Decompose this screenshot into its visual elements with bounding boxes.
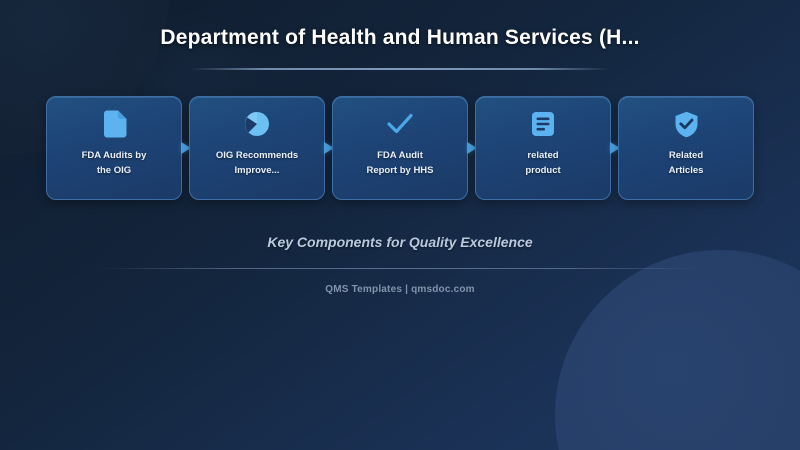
process-card-4-label-line2: product: [525, 165, 560, 176]
shield-check-icon: [672, 110, 700, 138]
process-card-3-label-line2: Report by HHS: [366, 165, 433, 176]
process-card-4[interactable]: related product: [475, 96, 611, 200]
process-card-5[interactable]: Related Articles: [618, 96, 754, 200]
footer-attribution: QMS Templates | qmsdoc.com: [0, 284, 800, 295]
process-card-1-label: FDA Audits by the OIG: [74, 149, 155, 178]
process-card-3-label: FDA Audit Report by HHS: [358, 149, 441, 178]
slide-canvas: Department of Health and Human Services …: [0, 0, 800, 450]
connector-arrow-3: [468, 96, 475, 200]
process-card-3[interactable]: FDA Audit Report by HHS: [332, 96, 468, 200]
process-card-5-label-line1: Related: [669, 150, 703, 161]
process-card-1[interactable]: FDA Audits by the OIG: [46, 96, 182, 200]
process-card-row: FDA Audits by the OIG OIG Recommends Imp…: [46, 96, 754, 200]
process-card-1-label-line1: FDA Audits by: [82, 150, 147, 161]
slide-subtitle: Key Components for Quality Excellence: [0, 234, 800, 250]
document-lines-icon: [529, 110, 557, 138]
process-card-4-label-line1: related: [527, 150, 558, 161]
title-divider: [190, 68, 610, 70]
connector-arrow-4: [611, 96, 618, 200]
process-card-2-label-line2: Improve...: [235, 165, 280, 176]
process-card-2[interactable]: OIG Recommends Improve...: [189, 96, 325, 200]
connector-arrow-2: [325, 96, 332, 200]
process-card-1-label-line2: the OIG: [97, 165, 131, 176]
connector-arrow-1: [182, 96, 189, 200]
page-title: Department of Health and Human Services …: [0, 26, 800, 50]
process-card-2-label: OIG Recommends Improve...: [208, 149, 306, 178]
slide-header: Department of Health and Human Services …: [0, 26, 800, 70]
footer-divider: [100, 268, 700, 269]
process-card-2-label-line1: OIG Recommends: [216, 150, 298, 161]
checkmark-icon: [386, 110, 414, 138]
pie-circle-icon: [243, 110, 271, 138]
process-card-5-label-line2: Articles: [669, 165, 704, 176]
decorative-circle-bottom-right: [555, 250, 800, 450]
process-card-4-label: related product: [517, 149, 568, 178]
document-page-icon: [100, 110, 128, 138]
process-card-5-label: Related Articles: [661, 149, 712, 178]
process-card-3-label-line1: FDA Audit: [377, 150, 423, 161]
